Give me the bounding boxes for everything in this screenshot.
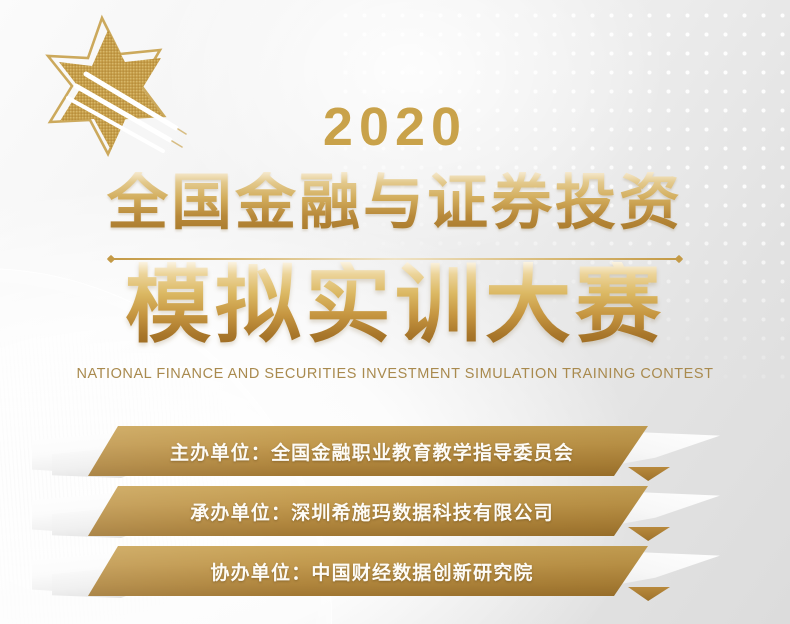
organizer-ribbon-list: 主办单位：全国金融职业教育教学指导委员会 承办单位：深圳希施玛数据科技有限公司 … — [0, 424, 790, 624]
ribbon-co-organizer: 协办单位：中国财经数据创新研究院 — [0, 544, 790, 600]
poster-canvas: 2020 全国金融与证券投资 模拟实训大赛 NATIONAL FINANCE A… — [0, 0, 790, 624]
year-container: 2020 — [0, 96, 790, 158]
subtitle-english: NATIONAL FINANCE AND SECURITIES INVESTME… — [0, 366, 790, 382]
ribbon-label: 协办单位：中国财经数据创新研究院 — [88, 546, 648, 596]
ribbon-label: 主办单位：全国金融职业教育教学指导委员会 — [88, 426, 648, 476]
ribbon-host: 承办单位：深圳希施玛数据科技有限公司 — [0, 484, 790, 540]
title-line-2: 模拟实训大赛 — [0, 262, 790, 348]
title-line-1: 全国金融与证券投资 — [0, 172, 790, 233]
ribbon-label: 承办单位：深圳希施玛数据科技有限公司 — [88, 486, 648, 536]
ribbon-organizer: 主办单位：全国金融职业教育教学指导委员会 — [0, 424, 790, 480]
year-label: 2020 — [323, 96, 467, 158]
